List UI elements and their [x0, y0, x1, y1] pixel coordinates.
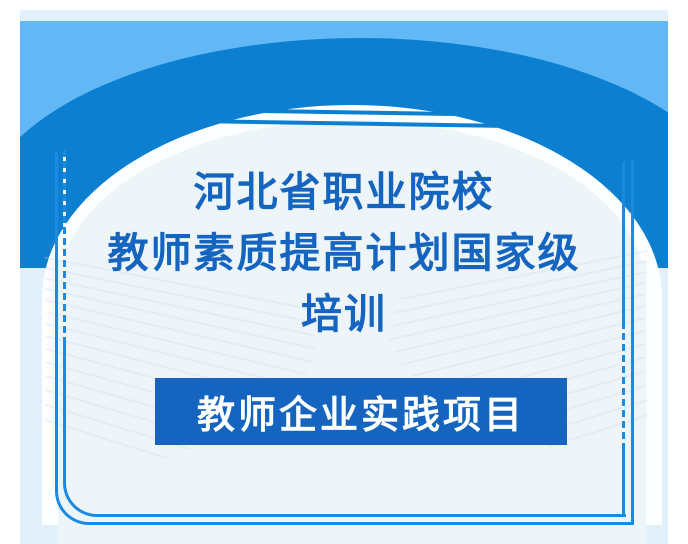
headline-line-2: 教师素质提高计划国家级	[75, 223, 613, 284]
headline-line-3: 培训	[75, 284, 613, 345]
poster-card: 河北省职业院校 教师素质提高计划国家级 培训 教师企业实践项目	[20, 10, 668, 544]
subtitle-banner: 教师企业实践项目	[155, 378, 567, 445]
headline-line-1: 河北省职业院校	[75, 162, 613, 223]
poster-root: 河北省职业院校 教师素质提高计划国家级 培训 教师企业实践项目	[0, 0, 688, 544]
subtitle-banner-label: 教师企业实践项目	[197, 384, 525, 439]
poster-headline: 河北省职业院校 教师素质提高计划国家级 培训	[75, 162, 613, 345]
